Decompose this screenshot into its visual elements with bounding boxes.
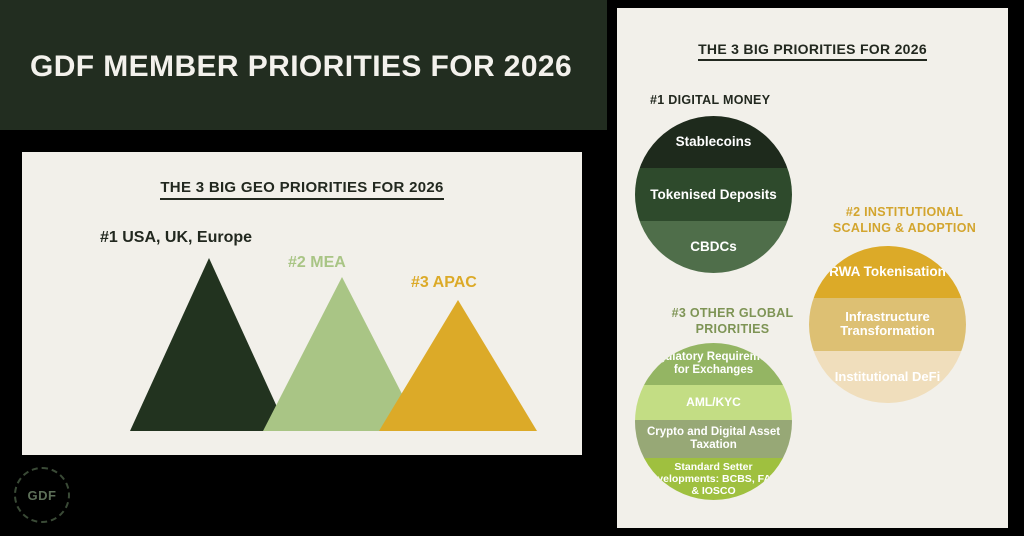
digital-money-circle: Stablecoins Tokenised Deposits CBDCs xyxy=(635,116,792,273)
band-tokenised-deposits: Tokenised Deposits xyxy=(635,168,792,221)
band-infrastructure-transformation: Infrastructure Transformation xyxy=(809,298,966,351)
priorities-panel-title: THE 3 BIG PRIORITIES FOR 2026 xyxy=(617,41,1008,57)
geo-priorities-title-text: THE 3 BIG GEO PRIORITIES FOR 2026 xyxy=(160,179,443,200)
header-band: GDF MEMBER PRIORITIES FOR 2026 xyxy=(0,0,607,130)
group-heading-3: #3 OTHER GLOBAL PRIORITIES xyxy=(645,306,820,337)
band-standard-setter-developments: Standard Setter Developments: BCBS, FATF… xyxy=(635,458,792,500)
band-stablecoins: Stablecoins xyxy=(635,116,792,168)
group-heading-1: #1 DIGITAL MONEY xyxy=(650,93,770,109)
institutional-scaling-circle: RWA Tokenisation Infrastructure Transfor… xyxy=(809,246,966,403)
band-regulatory-requirements: Regulatory Requirements for Exchanges xyxy=(635,343,792,385)
priorities-panel-title-text: THE 3 BIG PRIORITIES FOR 2026 xyxy=(698,41,927,61)
geo-priorities-title: THE 3 BIG GEO PRIORITIES FOR 2026 xyxy=(22,179,582,196)
priorities-panel: THE 3 BIG PRIORITIES FOR 2026 #1 DIGITAL… xyxy=(617,8,1008,528)
mountain-shape-3 xyxy=(379,300,537,431)
band-aml-kyc: AML/KYC xyxy=(635,385,792,420)
other-global-priorities-circle: Regulatory Requirements for Exchanges AM… xyxy=(635,343,792,500)
band-cbdcs: CBDCs xyxy=(635,221,792,273)
band-institutional-defi: Institutional DeFi xyxy=(809,351,966,403)
page-title: GDF MEMBER PRIORITIES FOR 2026 xyxy=(30,50,572,84)
gdf-logo-icon: GDF xyxy=(14,467,70,523)
band-crypto-asset-taxation: Crypto and Digital Asset Taxation xyxy=(635,420,792,458)
peak-label-2: #2 MEA xyxy=(288,254,346,272)
geo-priorities-card: THE 3 BIG GEO PRIORITIES FOR 2026 #1 USA… xyxy=(22,152,582,455)
group-heading-2: #2 INSTITUTIONAL SCALING & ADOPTION xyxy=(817,205,992,236)
peak-label-1: #1 USA, UK, Europe xyxy=(100,229,252,247)
band-rwa-tokenisation: RWA Tokenisation xyxy=(809,246,966,298)
infographic-root: GDF MEMBER PRIORITIES FOR 2026 THE 3 BIG… xyxy=(0,0,1024,536)
gdf-logo-text: GDF xyxy=(28,488,57,503)
